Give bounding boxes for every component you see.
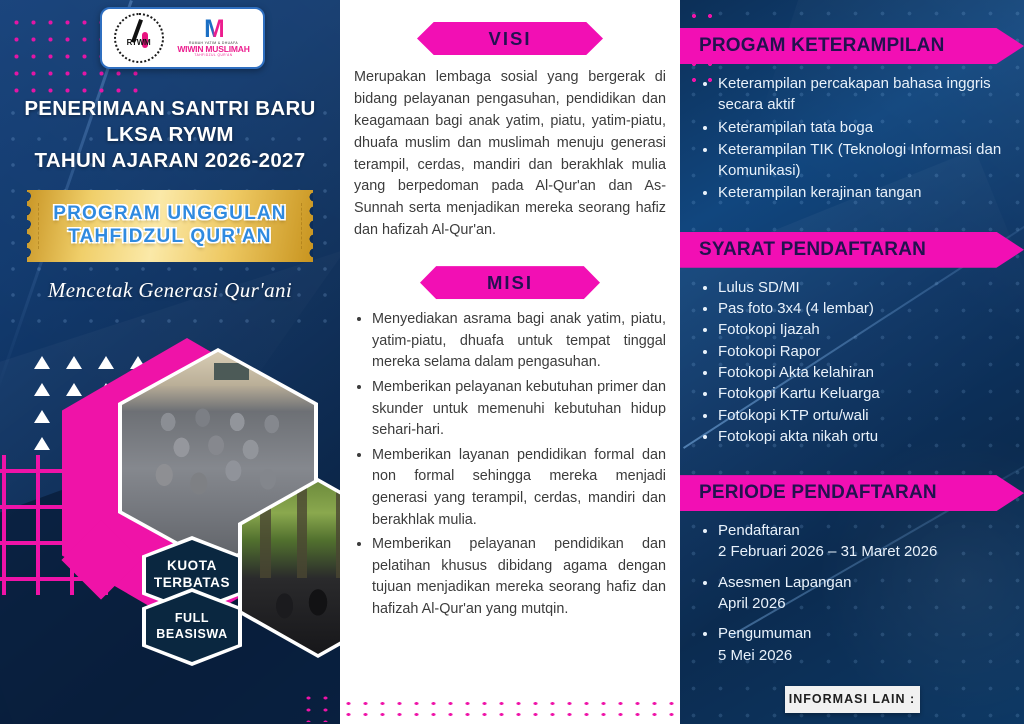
periode-heading-label: PERIODE PENDAFTARAN [699,482,937,504]
misi-heading: MISI [420,266,600,299]
visi-heading-label: VISI [489,28,532,50]
syarat-section: SYARAT PENDAFTARAN Lulus SD/MI Pas foto … [680,232,1024,447]
logo-tagline-bottom: TAHFIDZUL QUR'AN [194,53,232,57]
left-panel: RYWM M RUMAH YATIM & DHUAFA WIWIN MUSLIM… [0,0,340,724]
logo-m-mark: M [204,19,223,39]
rywm-seal-logo: RYWM [111,12,167,64]
tagline: Mencetak Generasi Qur'ani [0,278,340,303]
periode-heading: PERIODE PENDAFTARAN [680,475,1024,511]
list-item: Memberikan layanan pendidikan formal dan… [372,445,666,531]
center-panel: VISI Merupakan lembaga sosial yang berge… [340,0,680,724]
syarat-list: Lulus SD/MI Pas foto 3x4 (4 lembar) Foto… [680,277,1024,447]
info-label-text: INFORMASI LAIN : [789,692,915,706]
program-heading: PROGAM KETERAMPILAN [680,28,1024,64]
brochure-poster: RYWM M RUMAH YATIM & DHUAFA WIWIN MUSLIM… [0,0,1024,724]
right-panel: PROGAM KETERAMPILAN Keterampilan percaka… [680,0,1024,724]
list-item: Memberikan pelayanan pendidikan dan pela… [372,534,666,620]
list-item: Memberikan pelayanan kebutuhan primer da… [372,377,666,442]
list-item: Lulus SD/MI [718,277,1024,298]
list-item: Fotokopi Akta kelahiran [718,362,1024,383]
featured-program-ticket: PROGRAM UNGGULAN TAHFIDZUL QUR'AN [27,190,313,262]
ticket-line-1: PROGRAM UNGGULAN [53,203,286,226]
list-item: Pengumuman 5 Mei 2026 [718,623,1024,666]
program-list: Keterampilan percakapan bahasa inggris s… [680,73,1024,204]
logo-name: WIWIN MUSLIMAH [177,45,249,54]
list-item: Keterampilan TIK (Teknologi Informasi da… [718,139,1024,182]
syarat-heading: SYARAT PENDAFTARAN [680,232,1024,268]
list-item: Fotokopi Ijazah [718,319,1024,340]
periode-list: Pendaftaran 2 Februari 2026 – 31 Maret 2… [680,520,1024,666]
decor-pink-dots-bottomleft [300,692,340,722]
photo-hexagon-cluster: KUOTA TERBATAS FULL BEASISWA [118,348,338,668]
program-section: PROGAM KETERAMPILAN Keterampilan percaka… [680,28,1024,204]
visi-text: Merupakan lembaga sosial yang bergerak d… [354,67,666,242]
wiwin-muslimah-logo: M RUMAH YATIM & DHUAFA WIWIN MUSLIMAH TA… [173,12,255,64]
decor-pink-dots-bottomcenter [340,698,680,724]
program-heading-label: PROGAM KETERAMPILAN [699,35,945,57]
syarat-heading-label: SYARAT PENDAFTARAN [699,239,926,261]
info-label-box: INFORMASI LAIN : [785,686,920,713]
list-item: Keterampilan tata boga [718,117,1024,138]
badge-scholarship-label: FULL BEASISWA [146,592,238,662]
list-item: Pas foto 3x4 (4 lembar) [718,298,1024,319]
list-item: Pendaftaran 2 Februari 2026 – 31 Maret 2… [718,520,1024,563]
list-item: Keterampilan percakapan bahasa inggris s… [718,73,1024,116]
ticket-inner: PROGRAM UNGGULAN TAHFIDZUL QUR'AN [38,203,301,249]
list-item: Asesmen Lapangan April 2026 [718,572,1024,615]
list-item: Fotokopi akta nikah ortu [718,426,1024,447]
ticket-line-2: TAHFIDZUL QUR'AN [53,226,286,249]
page-title: PENERIMAAN SANTRI BARU LKSA RYWM TAHUN A… [0,96,340,174]
logo-card: RYWM M RUMAH YATIM & DHUAFA WIWIN MUSLIM… [100,7,265,69]
misi-heading-label: MISI [487,272,533,294]
list-item: Fotokopi Kartu Keluarga [718,383,1024,404]
seal-label: RYWM [127,38,151,47]
list-item: Fotokopi KTP ortu/wali [718,405,1024,426]
periode-section: PERIODE PENDAFTARAN Pendaftaran 2 Februa… [680,475,1024,666]
visi-heading: VISI [417,22,603,55]
list-item: Fotokopi Rapor [718,341,1024,362]
list-item: Menyediakan asrama bagi anak yatim, piat… [372,309,666,374]
list-item: Keterampilan kerajinan tangan [718,182,1024,203]
misi-list: Menyediakan asrama bagi anak yatim, piat… [354,309,666,624]
